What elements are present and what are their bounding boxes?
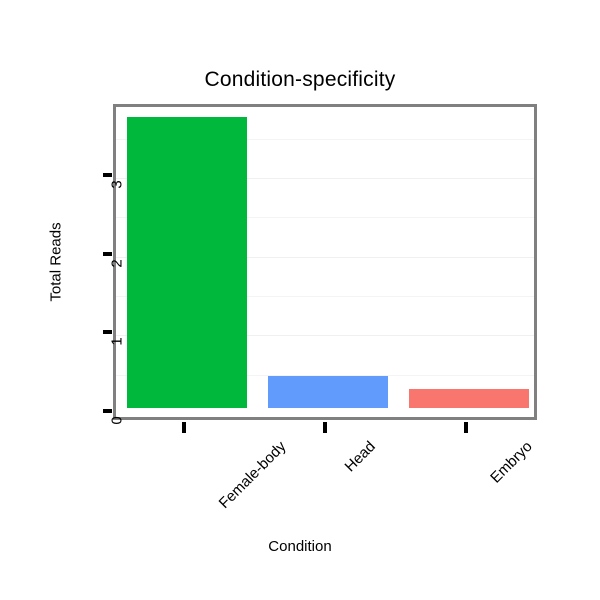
chart-figure: Condition-specificity Total Reads Condit… <box>0 0 600 600</box>
x-tick-mark <box>323 422 327 433</box>
y-tick-label: 3 <box>109 174 126 194</box>
bar-female-body[interactable] <box>127 117 247 408</box>
bar-series <box>116 107 534 417</box>
x-tick-label-female-body: Female-body <box>215 438 289 512</box>
y-axis-title: Total Reads <box>48 222 65 301</box>
x-tick-mark <box>182 422 186 433</box>
chart-title: Condition-specificity <box>0 68 600 92</box>
bar-embryo[interactable] <box>409 389 529 408</box>
x-tick-label-head: Head <box>342 438 379 475</box>
bar-head[interactable] <box>268 376 388 408</box>
y-tick-label: 0 <box>109 411 126 431</box>
x-tick-label-embryo: Embryo <box>487 438 536 487</box>
x-axis-title: Condition <box>0 538 600 555</box>
plot-panel <box>113 104 537 420</box>
x-tick-mark <box>464 422 468 433</box>
y-tick-label: 2 <box>109 253 126 273</box>
y-tick-label: 1 <box>109 332 126 352</box>
